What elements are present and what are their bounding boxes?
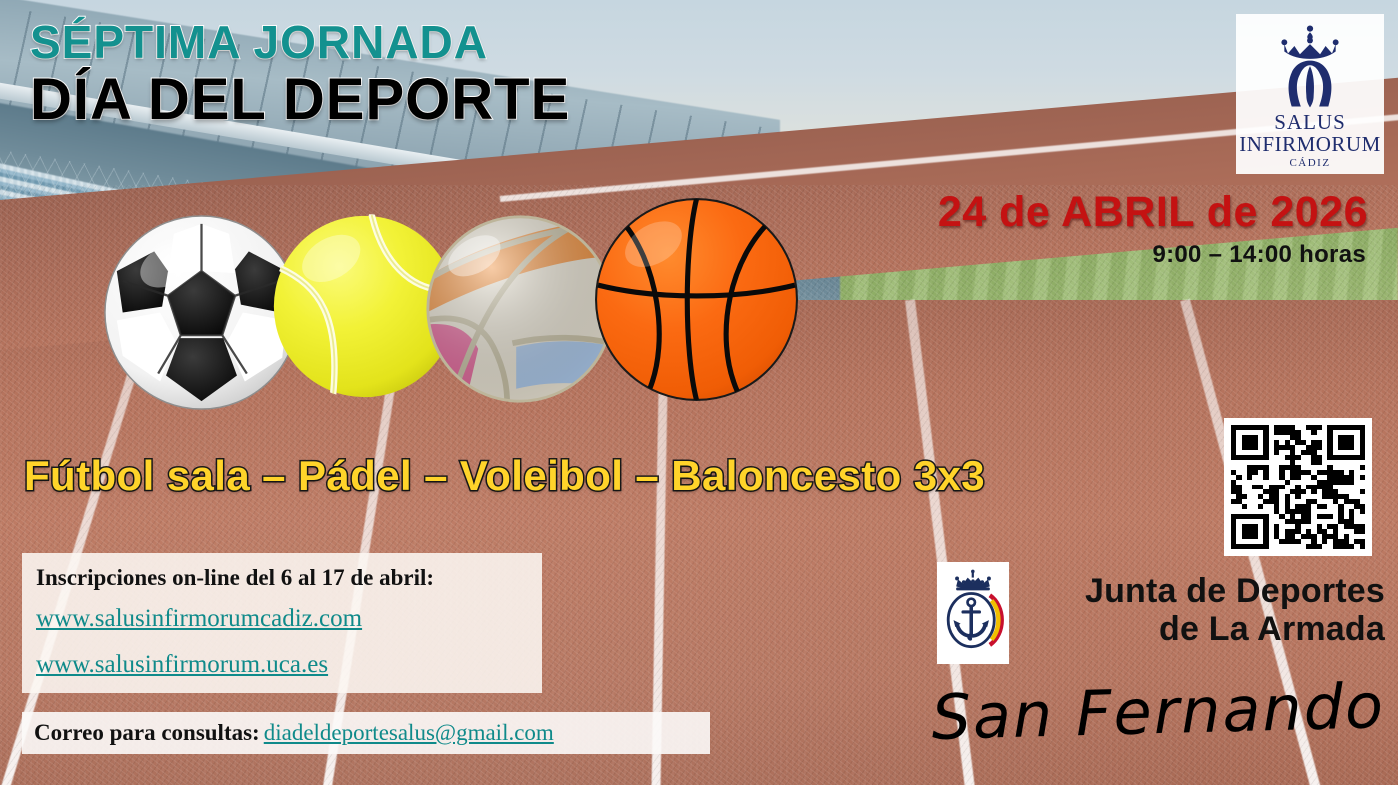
- registration-link-uca[interactable]: www.salusinfirmorum.uca.es: [36, 651, 528, 679]
- page-title-line1: SÉPTIMA JORNADA: [30, 18, 570, 66]
- qr-code-matrix: [1231, 425, 1365, 549]
- contact-label: Correo para consultas:: [34, 720, 260, 745]
- armada-line1: Junta de Deportes: [1020, 572, 1385, 610]
- qr-code[interactable]: [1224, 418, 1372, 556]
- poster-title-block: SÉPTIMA JORNADA DÍA DEL DEPORTE: [30, 18, 570, 131]
- contact-box: Correo para consultas: diadeldeportesalu…: [22, 712, 710, 754]
- event-date-block: 24 de ABRIL de 2026 9:00 – 14:00 horas: [938, 188, 1368, 269]
- registration-box: Inscripciones on-line del 6 al 17 de abr…: [22, 553, 542, 693]
- soccer-ball-icon: [103, 214, 300, 411]
- salus-line3: CÁDIZ: [1239, 158, 1381, 169]
- event-date: 24 de ABRIL de 2026: [938, 188, 1368, 237]
- salus-line1: SALUS: [1239, 112, 1381, 133]
- registration-link-cadiz[interactable]: www.salusinfirmorumcadiz.com: [36, 605, 528, 633]
- armada-line2: de La Armada: [1020, 610, 1385, 648]
- city-name: San Fernando: [859, 669, 1386, 756]
- event-time: 9:00 – 14:00 horas: [938, 241, 1366, 269]
- navy-crest-icon: [942, 567, 1004, 659]
- volleyball-icon: [425, 214, 615, 404]
- armada-text-block: Junta de Deportes de La Armada: [1020, 572, 1385, 648]
- contact-email[interactable]: diadeldeportesalus@gmail.com: [264, 720, 554, 745]
- salus-infirmorum-logo: SALUS INFIRMORUM CÁDIZ: [1236, 14, 1384, 174]
- junta-deportes-armada-logo: [937, 562, 1009, 664]
- salus-line2: INFIRMORUM: [1239, 134, 1381, 155]
- salus-logo-text: SALUS INFIRMORUM CÁDIZ: [1239, 112, 1381, 169]
- sports-list: Fútbol sala – Pádel – Voleibol – Balonce…: [24, 452, 985, 500]
- event-poster: SÉPTIMA JORNADA DÍA DEL DEPORTE 24 de AB…: [0, 0, 1398, 785]
- salus-emblem-icon: [1264, 24, 1356, 112]
- basketball-icon: [594, 197, 799, 402]
- page-title-line2: DÍA DEL DEPORTE: [30, 70, 570, 131]
- registration-heading: Inscripciones on-line del 6 al 17 de abr…: [36, 565, 528, 591]
